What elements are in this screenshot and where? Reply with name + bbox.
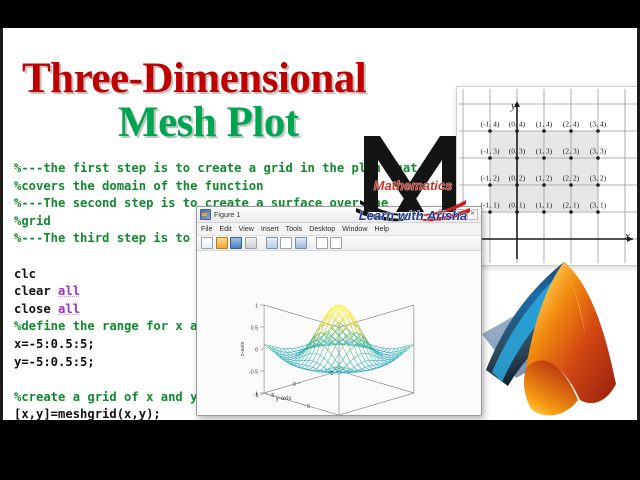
figure-window-title: Figure 1 <box>214 210 240 219</box>
lattice-point <box>542 156 546 160</box>
code-line: %---the first step is to create a grid i… <box>14 160 414 178</box>
screenshot-stage: Three-Dimensional Mesh Plot %---the firs… <box>0 0 640 480</box>
z-axis-tick-label: 0.5 <box>251 325 259 331</box>
lattice-point <box>569 183 573 187</box>
lattice-point-label: (1, 1) <box>536 201 553 210</box>
x-axis-tick-label: 0 <box>307 404 310 410</box>
code-comment: %covers the domain of the function <box>14 179 263 193</box>
lattice-point-label: (1, 3) <box>536 147 553 156</box>
lattice-point-label: (2, 1) <box>563 201 580 210</box>
code-argument: all <box>58 302 80 316</box>
code-argument: all <box>58 284 80 298</box>
code-statement: [x,y]=meshgrid(x,y); <box>14 407 161 420</box>
z-axis-label: z-axis <box>240 341 246 356</box>
matlab-membrane-logo <box>482 250 634 420</box>
lattice-point <box>488 183 492 187</box>
lattice-point-label: (1, 4) <box>536 120 553 129</box>
lattice-point <box>515 129 519 133</box>
code-statement: y=-5:0.5:5; <box>14 355 95 369</box>
open-file-icon[interactable] <box>216 237 228 249</box>
code-comment: %create a grid of x and y <box>14 390 197 404</box>
x-axis-tick-label: -5 <box>270 393 275 399</box>
close-button[interactable]: ✕ <box>467 209 478 220</box>
page-title-line-2: Mesh Plot <box>118 100 299 146</box>
figure-menu-insert[interactable]: Insert <box>261 225 279 233</box>
figure-menu-edit[interactable]: Edit <box>219 225 231 233</box>
code-comment: %define the range for x and y <box>14 319 227 333</box>
lattice-point <box>596 183 600 187</box>
figure-menu-help[interactable]: Help <box>375 225 390 233</box>
lattice-point-label: (1, 2) <box>536 174 553 183</box>
pan-icon[interactable] <box>295 237 307 249</box>
grid-x-axis-label: x <box>624 230 630 242</box>
lattice-point <box>488 129 492 133</box>
insert-legend-icon[interactable] <box>330 237 342 249</box>
figure-title-bar[interactable]: Figure 1 – □ ✕ <box>197 207 481 223</box>
lattice-point <box>596 129 600 133</box>
lattice-point <box>596 210 600 214</box>
figure-menu-bar[interactable]: FileEditViewInsertToolsDesktopWindowHelp <box>197 223 481 236</box>
lattice-point-label: (0, 3) <box>509 147 526 156</box>
lattice-point-label: (3, 2) <box>590 174 607 183</box>
lattice-point-label: (0, 1) <box>509 201 526 210</box>
code-comment: %---The third step is to plot <box>14 231 227 245</box>
code-line: %covers the domain of the function <box>14 178 414 196</box>
toolbar-separator-2 <box>309 238 313 248</box>
figure-menu-tools[interactable]: Tools <box>286 225 303 233</box>
lattice-point <box>515 183 519 187</box>
code-comment: %---the first step is to create a grid i… <box>14 161 418 175</box>
z-axis-tick-label: -0.5 <box>249 369 258 375</box>
lattice-point-label: (3, 3) <box>590 147 607 156</box>
mesh-plot-svg: -1-0.500.51z-axis-505y-axis-505x-axis <box>197 251 481 416</box>
lattice-point <box>569 129 573 133</box>
matlab-figure-window[interactable]: Figure 1 – □ ✕ FileEditViewInsertToolsDe… <box>196 206 482 416</box>
toolbar-separator <box>259 238 263 248</box>
code-statement: clc <box>14 267 36 281</box>
figure-menu-file[interactable]: File <box>201 225 212 233</box>
lattice-point <box>488 156 492 160</box>
lattice-point <box>515 156 519 160</box>
maximize-button[interactable]: □ <box>453 209 464 220</box>
figure-menu-desktop[interactable]: Desktop <box>309 225 335 233</box>
grid-coordinate-diagram: (-1, 4)(0, 4)(1, 4)(2, 4)(3, 4)(-1, 3)(0… <box>456 86 640 266</box>
window-controls[interactable]: – □ ✕ <box>439 209 478 220</box>
lattice-point-label: (-1, 4) <box>481 120 500 129</box>
figure-toolbar[interactable] <box>197 236 481 251</box>
lattice-point <box>515 210 519 214</box>
print-figure-icon[interactable] <box>245 237 257 249</box>
lattice-point <box>569 156 573 160</box>
lattice-point <box>542 129 546 133</box>
minimize-button[interactable]: – <box>439 209 450 220</box>
grid-y-axis-label: y <box>510 100 516 112</box>
lattice-point-label: (3, 4) <box>590 120 607 129</box>
data-cursor-icon[interactable] <box>316 237 328 249</box>
page-title-line-1: Three-Dimensional <box>22 56 366 102</box>
z-axis-tick-label: 1 <box>255 303 258 309</box>
lattice-point <box>596 156 600 160</box>
slide-content-area: Three-Dimensional Mesh Plot %---the firs… <box>0 28 640 420</box>
lattice-point-label: (2, 3) <box>563 147 580 156</box>
lattice-point-label: (0, 4) <box>509 120 526 129</box>
lattice-point <box>488 210 492 214</box>
y-axis-tick-label: 0 <box>293 382 296 388</box>
lattice-point-label: (-1, 1) <box>481 201 500 210</box>
lattice-point-label: (0, 2) <box>509 174 526 183</box>
y-axis-tick-label: 5 <box>256 393 259 399</box>
figure-menu-window[interactable]: Window <box>342 225 367 233</box>
y-axis-label: y-axis <box>276 396 292 402</box>
lattice-point-label: (2, 2) <box>563 174 580 183</box>
code-statement: x=-5:0.5:5; <box>14 337 95 351</box>
y-axis-tick-label: -5 <box>329 371 334 377</box>
code-comment: %grid <box>14 214 51 228</box>
lattice-point-label: (3, 1) <box>590 201 607 210</box>
lattice-point-label: (2, 4) <box>563 120 580 129</box>
lattice-point-label: (-1, 2) <box>481 174 500 183</box>
lattice-point <box>542 210 546 214</box>
x-axis-tick-label: 5 <box>345 415 348 416</box>
z-axis-tick-label: 0 <box>255 347 258 353</box>
code-keyword: close <box>14 302 58 316</box>
figure-plot-canvas[interactable]: 3D mesh plot -1-0.500.51z-axis-505y-axis… <box>197 251 481 416</box>
lattice-point <box>542 183 546 187</box>
new-figure-icon[interactable] <box>201 237 213 249</box>
lattice-point-label: (-1, 3) <box>481 147 500 156</box>
zoom-out-icon[interactable] <box>280 237 292 249</box>
zoom-in-icon[interactable] <box>266 237 278 249</box>
save-figure-icon[interactable] <box>230 237 242 249</box>
code-keyword: clear <box>14 284 58 298</box>
matlab-app-icon <box>200 209 211 220</box>
lattice-point <box>569 210 573 214</box>
figure-menu-view[interactable]: View <box>239 225 254 233</box>
grid-diagram-svg: (-1, 4)(0, 4)(1, 4)(2, 4)(3, 4)(-1, 3)(0… <box>457 87 639 265</box>
